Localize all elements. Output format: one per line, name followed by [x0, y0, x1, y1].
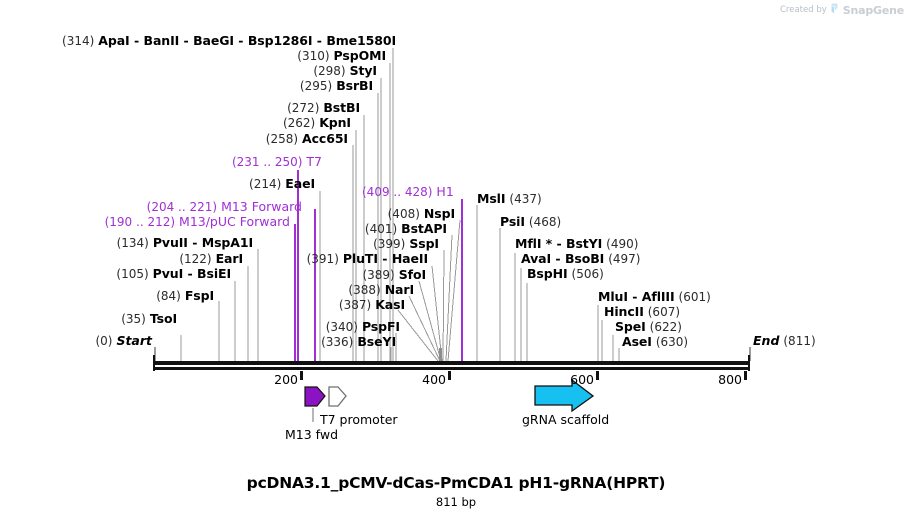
site-position: (468)	[529, 215, 561, 229]
ruler-tick-400	[448, 371, 451, 380]
feature-range: (231 .. 250)	[232, 155, 302, 169]
feature-name: M13/pUC Forward	[179, 214, 290, 229]
site-position: (408)	[388, 207, 420, 221]
start-text: Start	[116, 333, 152, 348]
site-name: PsiI	[500, 214, 525, 229]
site-name: BstBI	[323, 100, 360, 115]
site-position: (122)	[179, 252, 211, 266]
feature-range: (190 .. 212)	[105, 215, 175, 229]
site-position: (387)	[339, 298, 371, 312]
site-label-asei-group[interactable]: AseI (630)	[622, 335, 688, 349]
site-name: BsrBI	[336, 78, 373, 93]
end-text: End	[753, 333, 779, 348]
site-name: BstYI	[566, 236, 602, 251]
feature-name: H1	[436, 184, 453, 199]
site-name: PspFI	[362, 319, 400, 334]
snapgene-logo-icon	[831, 3, 839, 17]
site-name: BanII	[144, 33, 180, 48]
site-label-mlui-group[interactable]: MluI - AflIII (601)	[598, 290, 711, 304]
site-label-tsoi-group[interactable]: (35) TsoI	[121, 312, 177, 326]
leader-line-bstapi	[446, 235, 452, 361]
site-name: NarI	[385, 282, 414, 297]
ruler-tick-label-800: 800	[718, 372, 742, 387]
site-name: Acc65I	[302, 131, 348, 146]
feature-name: M13 Forward	[221, 199, 302, 214]
site-name: MluI	[598, 289, 628, 304]
site-name: BseYI	[357, 334, 396, 349]
ruler-tick-800	[744, 371, 747, 380]
ruler-tick-600	[596, 371, 599, 380]
site-label-psii-group[interactable]: PsiI (468)	[500, 215, 561, 229]
site-position: (134)	[117, 236, 149, 250]
site-position: (437)	[509, 192, 541, 206]
site-label-pspomi-group[interactable]: (310) PspOMI	[297, 49, 386, 63]
site-label-hincii-group[interactable]: HincII (607)	[604, 305, 680, 319]
site-label-kpni-group[interactable]: (262) KpnI	[283, 116, 351, 130]
ruler-tick-label-600: 600	[570, 372, 594, 387]
backbone-bar-lower	[153, 367, 750, 370]
site-label-eaei-group[interactable]: (214) EaeI	[249, 177, 315, 191]
site-label-mfli-group[interactable]: MflI * - BstYI (490)	[515, 237, 638, 251]
site-label-nspi-group[interactable]: (408) NspI	[388, 207, 455, 221]
ruler-tick-label-400: 400	[422, 372, 446, 387]
site-position: (388)	[348, 283, 380, 297]
start-position: (0)	[95, 334, 112, 348]
ruler-tick-200	[300, 371, 303, 380]
feature-name: T7	[306, 154, 322, 169]
site-name: EaeI	[285, 176, 315, 191]
backbone-bar-upper	[153, 361, 750, 365]
grna-scaffold-label: gRNA scaffold	[522, 412, 609, 427]
feature-label-m13puc-forward[interactable]: (190 .. 212) M13/pUC Forward	[105, 215, 290, 229]
start-marker-label: (0) Start	[95, 334, 152, 348]
site-name: Bme1580I	[326, 33, 396, 48]
site-cluster-mark	[439, 348, 442, 361]
site-name: AseI	[622, 334, 652, 349]
m13-fwd-label: M13 fwd	[285, 427, 338, 442]
site-label-bstapi-group[interactable]: (401) BstAPI	[365, 222, 447, 236]
site-position: (298)	[313, 64, 345, 78]
site-label-bstbi-group[interactable]: (272) BstBI	[287, 101, 360, 115]
site-name: Bsp1286I	[248, 33, 313, 48]
site-label-styi-group[interactable]: (298) StyI	[313, 64, 377, 78]
site-name: HincII	[604, 304, 644, 319]
site-name: StyI	[350, 63, 377, 78]
site-position: (607)	[648, 305, 680, 319]
t7-promoter-label: T7 promoter	[320, 412, 398, 427]
site-name: NspI	[424, 206, 455, 221]
plasmid-length: 811 bp	[0, 495, 912, 509]
site-name: PvuII	[153, 235, 188, 250]
site-name: BaeGI	[193, 33, 234, 48]
site-label-bseyi-group[interactable]: (336) BseYI	[321, 335, 396, 349]
site-position: (105)	[116, 267, 148, 281]
end-position: (811)	[783, 334, 815, 348]
site-label-spei-group[interactable]: SpeI (622)	[615, 320, 682, 334]
site-position: (601)	[679, 290, 711, 304]
site-position: (401)	[365, 222, 397, 236]
site-name: PspOMI	[334, 48, 386, 63]
dna-backbone	[153, 355, 750, 371]
site-name: AvaI	[521, 251, 551, 266]
site-position: (630)	[656, 335, 688, 349]
site-position: (84)	[156, 289, 181, 303]
site-position: (214)	[249, 177, 281, 191]
watermark-prefix: Created by	[780, 5, 827, 15]
site-label-pluti-group[interactable]: (391) PluTI - HaeII	[307, 252, 428, 266]
site-name: KasI	[375, 297, 405, 312]
page-title: pcDNA3.1_pCMV-dCas-PmCDA1 pH1-gRNA(HPRT)	[0, 474, 912, 492]
plasmid-map-canvas	[0, 0, 912, 516]
site-position: (490)	[606, 237, 638, 251]
site-label-fspi-group[interactable]: (84) FspI	[156, 289, 214, 303]
site-name: BstAPI	[401, 221, 447, 236]
site-label-eari-group[interactable]: (122) EarI	[179, 252, 243, 266]
site-name: MspA1I	[202, 235, 253, 250]
feature-range: (204 .. 221)	[147, 200, 217, 214]
site-label-kasi-group[interactable]: (387) KasI	[339, 298, 405, 312]
site-name: SpeI	[615, 319, 646, 334]
site-name: BsiEI	[197, 266, 231, 281]
ruler-ticks-group	[300, 371, 747, 380]
endpoint-leaders	[155, 347, 750, 361]
site-name: FspI	[185, 288, 214, 303]
site-label-msli-group[interactable]: MslI (437)	[477, 192, 542, 206]
site-name: KpnI	[319, 115, 351, 130]
site-label-bsrbi-group[interactable]: (295) BsrBI	[300, 79, 373, 93]
site-position: (258)	[266, 132, 298, 146]
site-position: (340)	[326, 320, 358, 334]
ruler-tick-label-200: 200	[274, 372, 298, 387]
site-position: (314)	[62, 34, 94, 48]
title-block: pcDNA3.1_pCMV-dCas-PmCDA1 pH1-gRNA(HPRT)…	[0, 474, 912, 509]
site-label-apai-group[interactable]: (314) ApaI - BanII - BaeGI - Bsp1286I - …	[62, 34, 396, 48]
site-position: (622)	[650, 320, 682, 334]
site-label-nari-group[interactable]: (388) NarI	[348, 283, 414, 297]
backbone-cap-right	[748, 355, 750, 371]
site-name: ApaI	[98, 33, 129, 48]
site-position: (391)	[307, 252, 339, 266]
feature-label-t7[interactable]: (231 .. 250) T7	[232, 155, 322, 169]
site-name: HaeII	[392, 251, 428, 266]
site-name: BspHI	[527, 266, 568, 281]
feature-range: (409 .. 428)	[362, 185, 432, 199]
end-marker-label: End (811)	[753, 334, 816, 348]
site-position: (506)	[572, 267, 604, 281]
site-position: (399)	[373, 237, 405, 251]
site-name: AflIII	[642, 289, 675, 304]
snapgene-watermark: Created by SnapGene	[780, 3, 904, 17]
site-label-sfoi-group[interactable]: (389) SfoI	[362, 268, 426, 282]
site-name: SfoI	[399, 267, 426, 282]
site-position: (336)	[321, 335, 353, 349]
site-name: EarI	[216, 251, 243, 266]
site-name: SspI	[409, 236, 439, 251]
site-label-pspfi-group[interactable]: (340) PspFI	[326, 320, 400, 334]
watermark-brand: SnapGene	[843, 4, 904, 17]
site-position: (389)	[362, 268, 394, 282]
site-label-pvuii-group[interactable]: (134) PvuII - MspA1I	[117, 236, 253, 250]
site-name: MflI *	[515, 236, 552, 251]
t7-promoter-arrow[interactable]	[329, 387, 346, 406]
site-position: (497)	[608, 252, 640, 266]
site-position: (35)	[121, 312, 146, 326]
site-label-acc65i-group[interactable]: (258) Acc65I	[266, 132, 348, 146]
leader-line-nari	[409, 296, 440, 361]
site-label-bsphi-group[interactable]: BspHI (506)	[527, 267, 604, 281]
backbone-cap-left	[153, 355, 155, 371]
feature-span-h1	[462, 199, 476, 364]
feature-label-h1[interactable]: (409 .. 428) H1	[362, 185, 454, 199]
site-name: MslI	[477, 191, 505, 206]
site-position: (310)	[297, 49, 329, 63]
site-name: TsoI	[150, 311, 177, 326]
leader-line-kasi	[398, 310, 438, 361]
site-label-sspi-group[interactable]: (399) SspI	[373, 237, 439, 251]
site-name: PluTI	[343, 251, 378, 266]
leader-line-sspi	[443, 250, 444, 361]
feature-label-m13-forward[interactable]: (204 .. 221) M13 Forward	[147, 200, 302, 214]
site-position: (295)	[300, 79, 332, 93]
site-name: BsoBI	[565, 251, 604, 266]
site-position: (262)	[283, 116, 315, 130]
site-label-pvui-group[interactable]: (105) PvuI - BsiEI	[116, 267, 231, 281]
site-name: PvuI	[153, 266, 183, 281]
site-label-avai-group[interactable]: AvaI - BsoBI (497)	[521, 252, 640, 266]
site-position: (272)	[287, 101, 319, 115]
